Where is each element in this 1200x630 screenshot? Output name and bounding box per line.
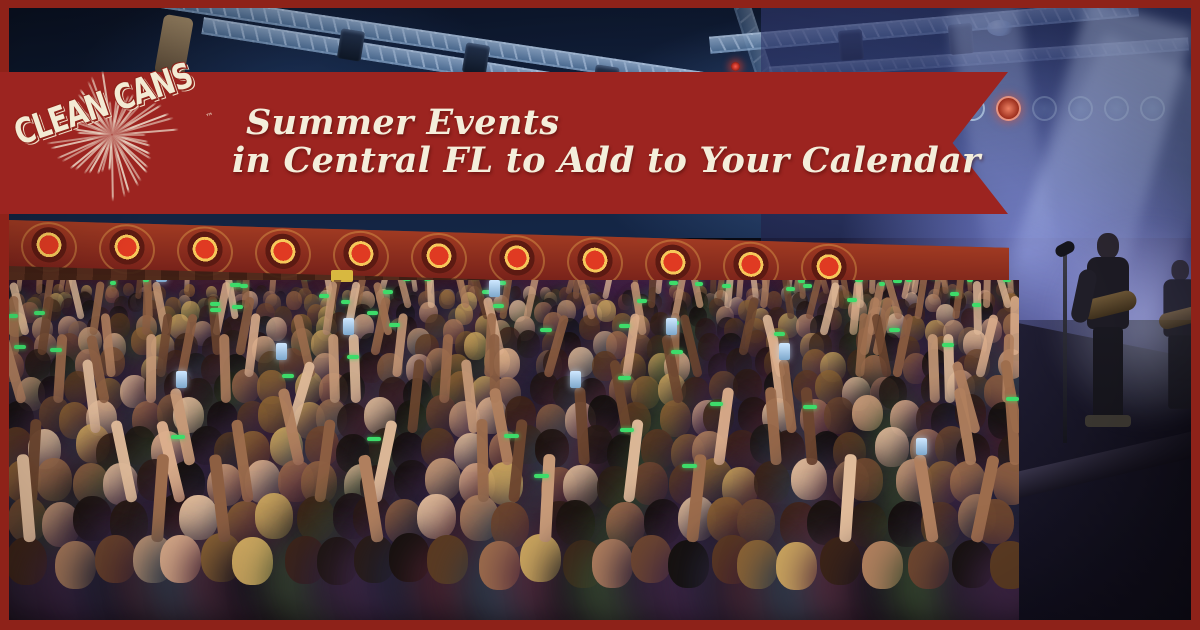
crowd-head [631, 535, 672, 583]
raised-arm [476, 419, 489, 502]
green-wristband [143, 280, 149, 282]
green-wristband [950, 292, 959, 296]
green-wristband [710, 402, 724, 406]
crowd-head [820, 537, 861, 585]
performer-shoes [1085, 415, 1131, 427]
green-wristband [786, 287, 795, 291]
crowd-head [427, 535, 468, 583]
ceiling-medallion [101, 226, 153, 273]
phone-screen [156, 280, 167, 282]
green-wristband [682, 464, 697, 468]
raised-arm [36, 280, 43, 294]
green-wristband [319, 294, 329, 298]
crowd-head [73, 496, 112, 541]
green-wristband [34, 311, 45, 315]
par-can-icon [1104, 96, 1129, 121]
par-can-icon [1068, 96, 1093, 121]
raised-arm [426, 280, 435, 308]
ceiling-medallion [23, 223, 75, 270]
green-wristband [341, 300, 351, 304]
green-wristband [367, 437, 381, 441]
crowd-head [317, 537, 358, 585]
green-wristband [774, 332, 785, 336]
phone-screen [916, 438, 927, 455]
green-wristband [232, 305, 243, 309]
crowd-head [592, 539, 633, 587]
crowd-head [952, 540, 993, 588]
crowd-head [297, 496, 336, 541]
green-wristband [50, 348, 62, 352]
crowd-head [417, 494, 456, 539]
green-wristband [671, 350, 683, 354]
brand-logo[interactable]: CLEAN CANS ™ [0, 72, 222, 214]
phone-screen [779, 343, 790, 360]
ceiling-medallion [179, 228, 231, 275]
crowd-head [95, 535, 136, 583]
trademark-symbol: ™ [205, 111, 215, 122]
raised-arm [146, 334, 156, 403]
crowd-head [862, 541, 903, 589]
ceiling-medallion [569, 239, 621, 286]
crowd-head [990, 541, 1019, 589]
social-share-banner: CLEAN CANS ™ Summer Events in Central FL… [0, 0, 1200, 630]
crowd-head [479, 541, 520, 589]
crowd-head [439, 290, 455, 309]
green-wristband [534, 474, 549, 478]
green-wristband [389, 323, 400, 327]
crowd-head [668, 540, 709, 588]
green-wristband [1006, 397, 1019, 401]
green-wristband [879, 282, 885, 286]
phone-screen [276, 343, 287, 360]
green-wristband [367, 311, 378, 315]
crowd-head [517, 330, 541, 358]
green-wristband [906, 280, 912, 282]
green-wristband [347, 355, 359, 359]
crowd-head [908, 541, 949, 589]
ceiling-medallion [257, 230, 309, 277]
green-wristband [210, 308, 221, 312]
green-wristband [637, 299, 647, 303]
phone-screen [489, 280, 500, 297]
phone-screen [666, 318, 677, 335]
crowd-head [824, 397, 855, 434]
stage-light-fixture [462, 42, 490, 75]
crowd-head [36, 458, 72, 501]
green-wristband [110, 281, 116, 285]
crowd-head [55, 541, 96, 589]
phone-screen [343, 318, 354, 335]
title-line-1: Summer Events [246, 105, 980, 141]
performer-head [1097, 233, 1119, 259]
green-wristband [230, 283, 239, 287]
green-wristband [855, 280, 863, 282]
raised-arm [328, 334, 340, 403]
green-wristband [618, 376, 631, 380]
green-wristband [967, 280, 973, 282]
crowd-head [9, 537, 47, 585]
performer-head [1171, 260, 1189, 281]
crowd-head [160, 535, 201, 583]
green-wristband [620, 428, 634, 432]
indicator-light [731, 62, 740, 71]
phone-screen [176, 371, 187, 388]
crowd-head [875, 427, 909, 467]
green-wristband [722, 284, 730, 288]
green-wristband [240, 284, 248, 288]
crowd-head [737, 540, 778, 588]
green-wristband [847, 298, 857, 302]
green-wristband [669, 281, 678, 285]
raised-arm [983, 280, 991, 308]
green-wristband [803, 405, 817, 409]
green-wristband [9, 314, 18, 318]
ceiling-medallion [491, 236, 543, 283]
green-wristband [972, 303, 982, 307]
green-wristband [893, 280, 902, 283]
concert-crowd [9, 280, 1019, 620]
title-ribbon: CLEAN CANS ™ Summer Events in Central FL… [0, 72, 1008, 214]
raised-arm [348, 334, 360, 403]
phone-screen [570, 371, 581, 388]
crowd-head [556, 500, 595, 545]
raised-arm [927, 334, 939, 403]
crowd-head [255, 493, 294, 538]
green-wristband [282, 374, 295, 378]
green-wristband [942, 343, 954, 347]
ceiling-medallion [413, 234, 465, 281]
stage-light-fixture [337, 28, 365, 61]
raised-arm [219, 334, 231, 403]
performer-legs [1093, 327, 1123, 419]
par-can-icon [1140, 96, 1165, 121]
banner-title: Summer Events in Central FL to Add to Yo… [222, 105, 1050, 182]
crowd-head [776, 542, 817, 590]
crowd-head [179, 495, 218, 540]
green-wristband [889, 328, 900, 332]
green-wristband [210, 302, 220, 306]
performer-legs [1168, 335, 1191, 409]
green-wristband [803, 284, 812, 288]
raised-arm [973, 281, 982, 335]
crowd-head [754, 461, 790, 504]
green-wristband [383, 290, 393, 294]
green-wristband [14, 345, 26, 349]
green-wristband [493, 304, 504, 308]
crowd-head [232, 537, 273, 585]
green-wristband [619, 324, 630, 328]
crowd-head [852, 395, 883, 432]
green-wristband [695, 282, 703, 286]
raised-arm [142, 281, 152, 335]
microphone-stand [1063, 255, 1067, 443]
green-wristband [504, 434, 518, 438]
crowd-head [389, 533, 430, 581]
green-wristband [540, 328, 551, 332]
green-wristband [171, 435, 185, 439]
title-line-2: in Central FL to Add to Your Calendar [232, 140, 980, 181]
